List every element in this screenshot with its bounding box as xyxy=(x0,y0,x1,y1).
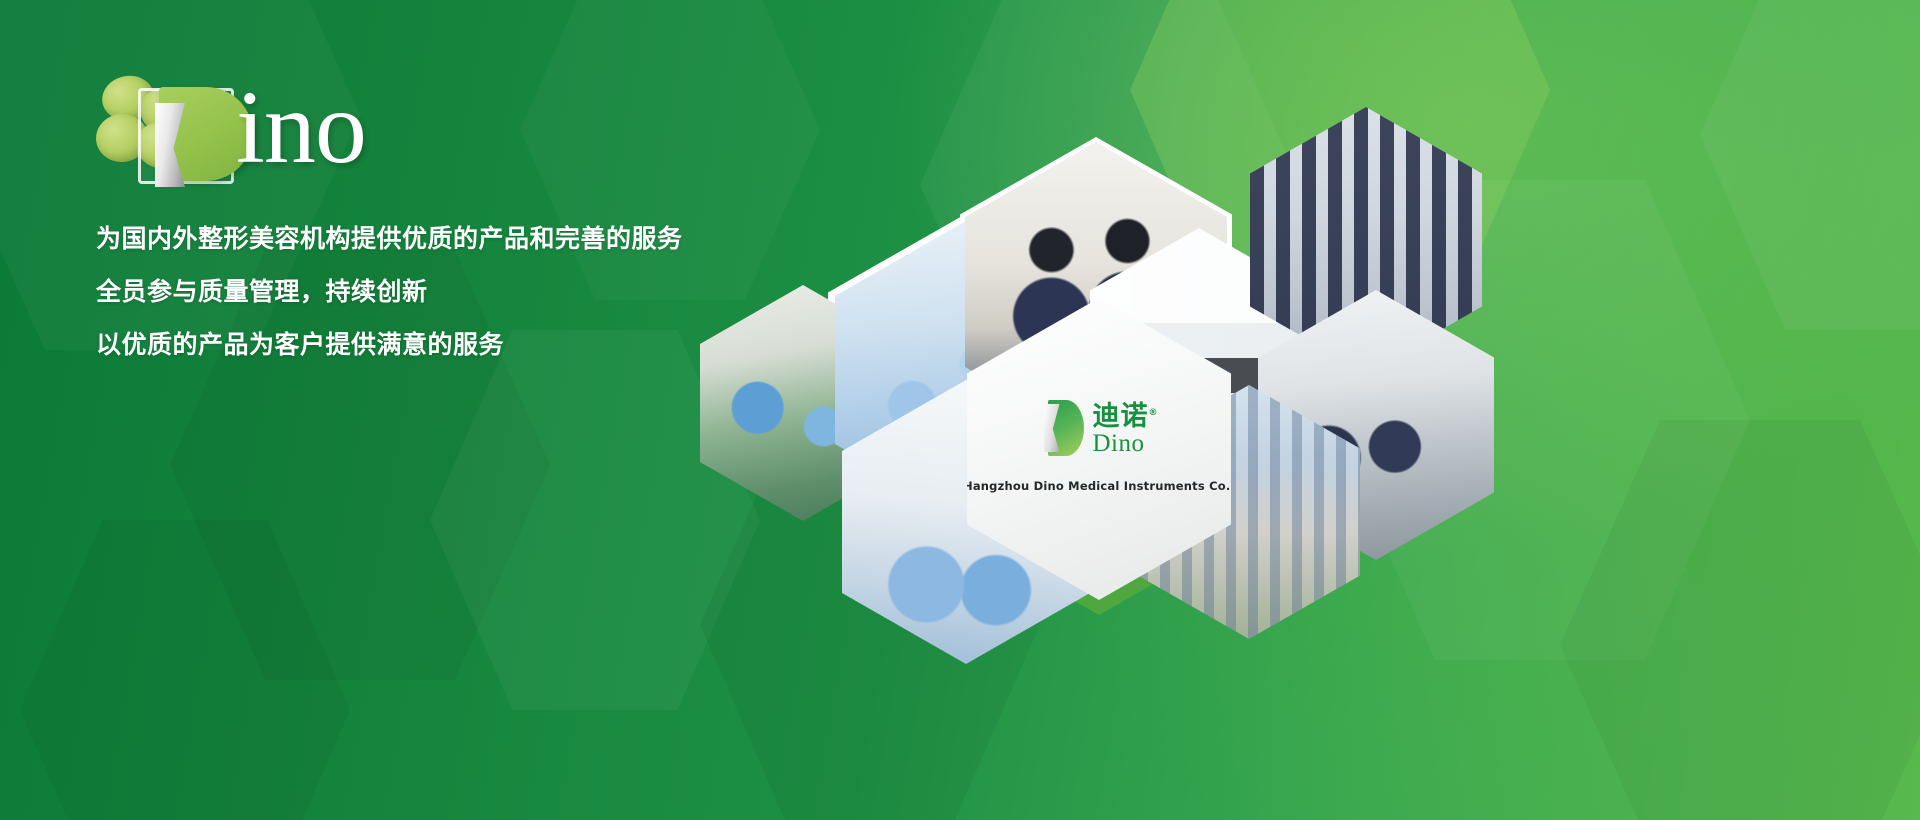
badge-logo-cn-text: 迪诺 xyxy=(1093,401,1149,432)
hexagon-photo-collage: 迪诺® Dino Hangzhou Dino Medical Instrumen… xyxy=(660,85,1920,605)
badge-logo-cn: 迪诺® xyxy=(1093,399,1159,431)
registered-mark-icon: ® xyxy=(1149,408,1159,418)
dino-logo[interactable]: ino xyxy=(96,72,436,182)
logo-d-letter xyxy=(138,88,234,184)
badge-company-name: Hangzhou Dino Medical Instruments Co.. xyxy=(967,479,1231,493)
badge-text-stack: 迪诺® Dino xyxy=(1093,399,1159,457)
logo-wordmark: ino xyxy=(236,76,366,180)
badge-d-icon xyxy=(1040,400,1084,456)
badge-logo-en: Dino xyxy=(1093,431,1159,457)
badge-logo-row: 迪诺® Dino xyxy=(1040,399,1159,457)
hero-banner: ino 为国内外整形美容机构提供优质的产品和完善的服务 全员参与质量管理，持续创… xyxy=(0,0,1920,820)
